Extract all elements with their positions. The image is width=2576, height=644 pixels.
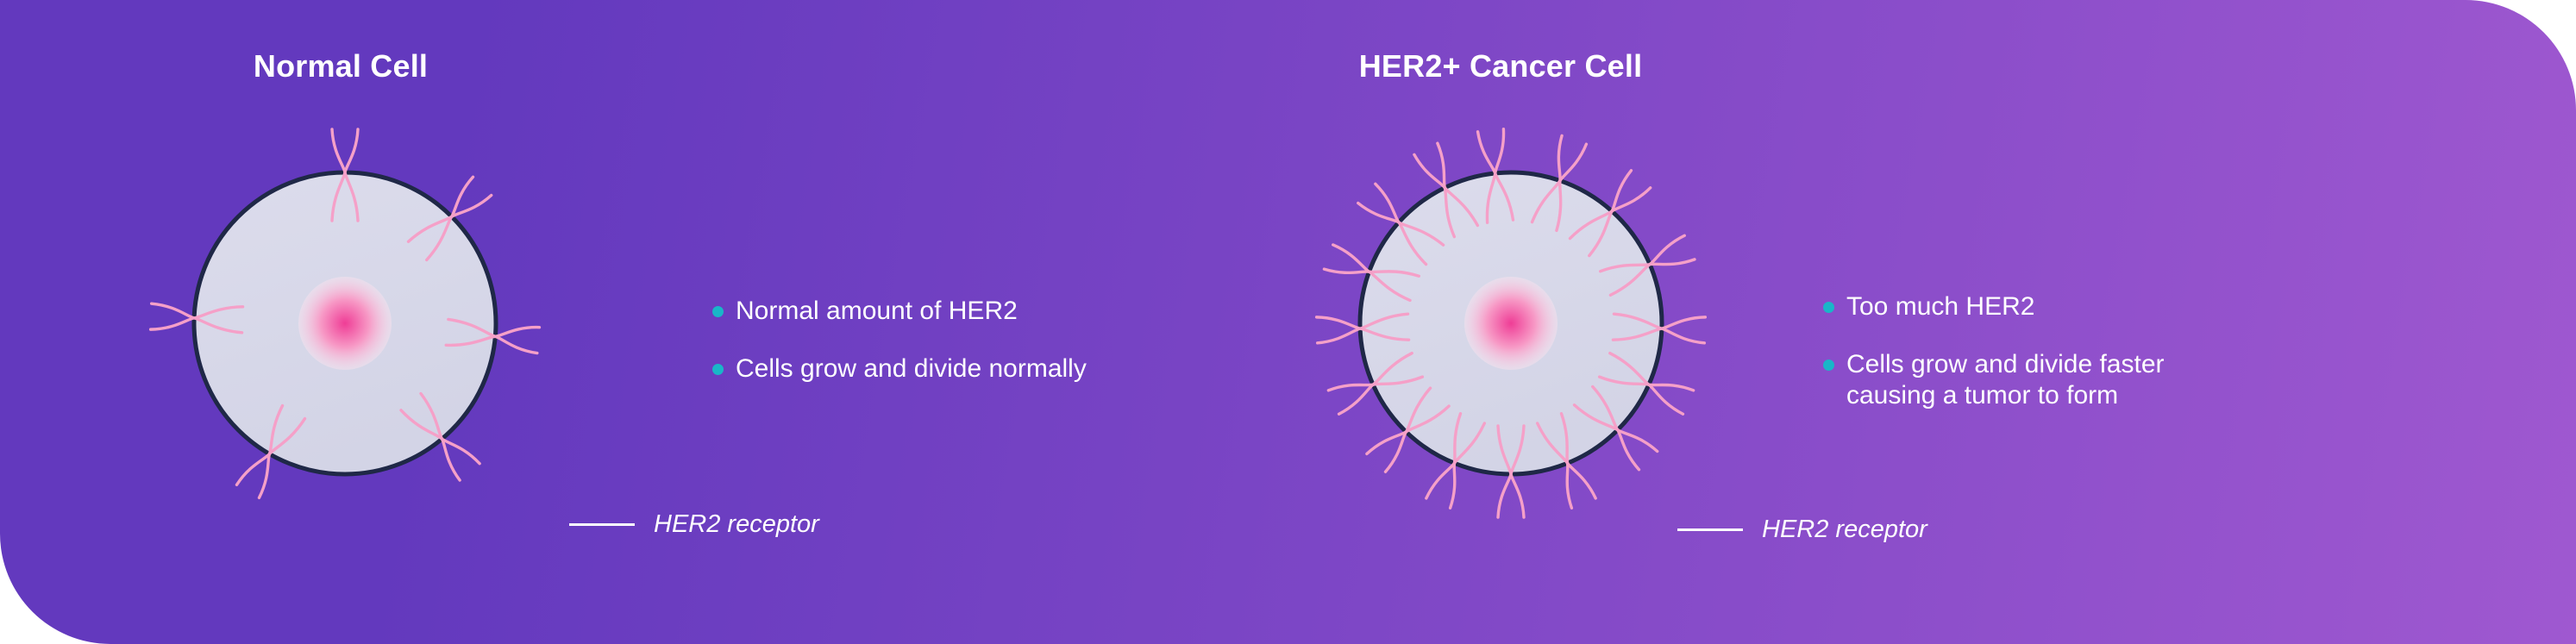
bullet-dot-icon (712, 306, 724, 317)
bullet-item: Too much HER2 (1823, 291, 2165, 323)
cell-nucleus (1464, 277, 1558, 370)
bullet-item: Normal amount of HER2 (712, 296, 1087, 328)
infographic-canvas: Normal CellNormal amount of HER2Cells gr… (0, 0, 2576, 644)
callout-label: HER2 receptor (654, 510, 819, 539)
diagram-root: Normal CellNormal amount of HER2Cells gr… (0, 0, 2576, 644)
receptor-callout-normal-cell: HER2 receptor (569, 510, 819, 539)
cell-illustration-normal-cell (99, 78, 591, 569)
cell-illustration-her2-cancer-cell (1265, 78, 1757, 569)
bullet-item: Cells grow and divide faster causing a t… (1823, 349, 2165, 412)
bullet-list-normal-cell: Normal amount of HER2Cells grow and divi… (712, 296, 1087, 385)
bullet-dot-icon (1823, 302, 1834, 313)
callout-label: HER2 receptor (1762, 516, 1927, 544)
bullet-text: Normal amount of HER2 (736, 296, 1018, 328)
cell-nucleus (298, 277, 392, 370)
bullet-list-her2-cancer-cell: Too much HER2Cells grow and divide faste… (1823, 291, 2165, 412)
bullet-text: Cells grow and divide faster causing a t… (1846, 349, 2165, 412)
callout-leader-line (569, 523, 635, 526)
gradient-panel: Normal CellNormal amount of HER2Cells gr… (0, 0, 2576, 644)
bullet-text: Cells grow and divide normally (736, 353, 1087, 385)
bullet-dot-icon (712, 364, 724, 375)
bullet-text: Too much HER2 (1846, 291, 2034, 323)
callout-leader-line (1677, 528, 1743, 531)
bullet-item: Cells grow and divide normally (712, 353, 1087, 385)
bullet-dot-icon (1823, 360, 1834, 371)
receptor-callout-her2-cancer-cell: HER2 receptor (1677, 516, 1927, 544)
